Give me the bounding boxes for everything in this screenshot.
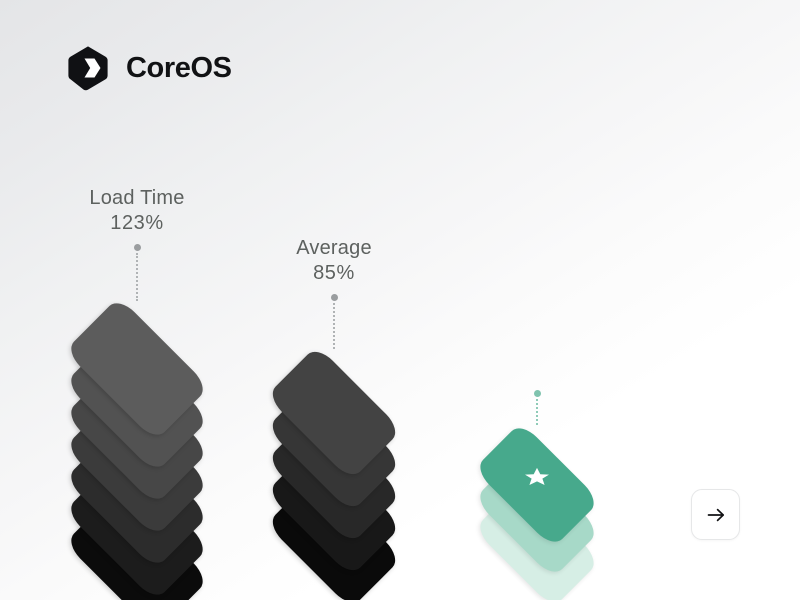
connector-line [536, 399, 538, 425]
stack-load-time[interactable] [47, 305, 228, 600]
brand-name: CoreOS [126, 54, 232, 83]
connector-dot [534, 390, 541, 397]
stack-label-title: Load Time [7, 186, 267, 211]
hexagon-chevron-logo-icon [64, 44, 112, 92]
brand-logo: CoreOS [64, 44, 232, 92]
stack-label-title: Average [204, 236, 464, 261]
connector-line [136, 253, 138, 301]
stack-average[interactable] [249, 353, 419, 597]
connector-line [333, 303, 335, 349]
slide-canvas: CoreOS Load Time123%Average85% [0, 0, 800, 600]
stack-connector-average [327, 294, 341, 349]
stack-connector-highlight [530, 390, 544, 425]
stack-label-average: Average85% [204, 236, 464, 286]
stack-label-value: 85% [204, 261, 464, 286]
arrow-right-icon [705, 504, 727, 526]
stack-label-value: 123% [7, 211, 267, 236]
connector-dot [134, 244, 141, 251]
stack-connector-load-time [130, 244, 144, 301]
next-button[interactable] [691, 489, 740, 540]
stack-highlight[interactable] [458, 429, 616, 598]
stack-label-load-time: Load Time123% [7, 186, 267, 236]
stack-group-highlight [407, 382, 667, 598]
connector-dot [331, 294, 338, 301]
